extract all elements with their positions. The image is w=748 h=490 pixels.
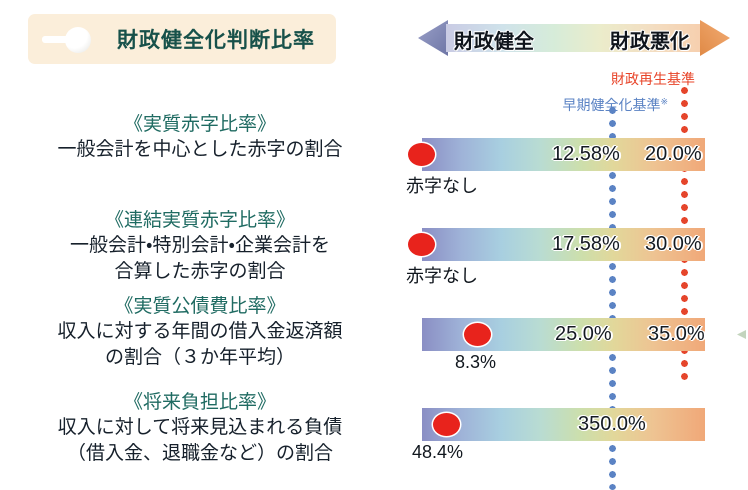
section-desc-line-1: 収入に対する年間の借入金返済額 [0,319,400,345]
gradient-bar [422,408,705,441]
section-title: 《実質公債費比率》 [0,294,400,319]
red-threshold-value: 35.0% [648,323,705,346]
red-threshold-value: 20.0% [645,143,702,166]
arrow-left-head-icon [418,20,448,56]
section-real-debt-service-ratio: 《実質公債費比率》 収入に対する年間の借入金返済額 の割合（３か年平均） [0,294,400,371]
blue-threshold-value: 25.0% [555,323,612,346]
section-desc-line-1: 一般会計・特別会計・企業会計を [0,233,400,259]
section-consolidated-real-deficit-ratio: 《連結実質赤字比率》 一般会計・特別会計・企業会計を 合算した赤字の割合 [0,208,400,285]
section-desc-line-1: 一般会計を中心とした赤字の割合 [0,137,400,163]
section-title: 《将来負担比率》 [0,390,400,415]
arrow-right-head-icon [700,20,730,56]
section-title: 《実質赤字比率》 [0,112,400,137]
edge-marker-icon [737,330,746,339]
legend-note-mark: ※ [660,96,668,106]
section-desc-line-2: の割合（３か年平均） [0,345,400,371]
current-value-label: 48.4% [412,442,463,463]
section-future-burden-ratio: 《将来負担比率》 収入に対して将来見込まれる負債 （借入金、退職金など）の割合 [0,390,400,467]
arrow-label-worsening: 財政悪化 [610,25,690,54]
current-value-marker [408,233,435,256]
current-value-label: 赤字なし [406,262,478,288]
section-title: 《連結実質赤字比率》 [0,208,400,233]
blue-threshold-value: 17.58% [552,233,620,256]
page-title: 財政健全化判断比率 [106,14,326,64]
current-value-label: 8.3% [455,352,496,373]
chart-area: 財政健全 財政悪化 財政再生基準 早期健全化基準※ 12.58% 20.0% 赤… [400,0,748,490]
blue-threshold-value: 350.0% [578,413,646,436]
current-value-label: 赤字なし [406,172,478,198]
current-value-marker [408,143,435,166]
section-desc-line-2: 合算した赤字の割合 [0,259,400,285]
current-value-marker [433,413,460,436]
direction-arrow: 財政健全 財政悪化 [418,20,730,56]
current-value-marker [464,323,491,346]
red-threshold-value: 30.0% [645,233,702,256]
section-desc-line-1: 収入に対して将来見込まれる負債 [0,415,400,441]
blue-threshold-value: 12.58% [552,143,620,166]
section-real-deficit-ratio: 《実質赤字比率》 一般会計を中心とした赤字の割合 [0,112,400,163]
section-desc-line-2: （借入金、退職金など）の割合 [0,441,400,467]
title-tag: 財政健全化判断比率 [28,14,336,64]
tag-hole-icon [65,27,91,53]
arrow-label-sound: 財政健全 [454,25,534,54]
